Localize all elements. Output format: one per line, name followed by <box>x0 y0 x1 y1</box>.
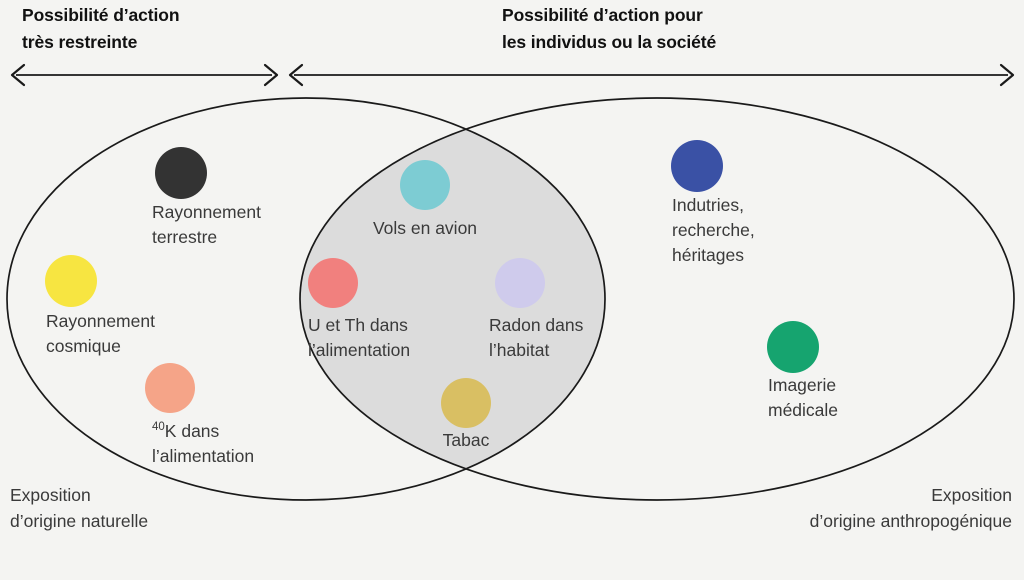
label-k40-dans-alimentation: 40K dans l’alimentation <box>152 415 372 469</box>
dot-rayonnement-cosmique <box>45 255 97 307</box>
label-k40-rest: K dans l’alimentation <box>152 421 254 466</box>
label-rayonnement-terrestre: Rayonnement terrestre <box>152 200 352 250</box>
label-rayonnement-cosmique: Rayonnement cosmique <box>46 309 246 359</box>
dot-imagerie-medicale <box>767 321 819 373</box>
caption-natural-exposure: Exposition d’origine naturelle <box>10 482 148 534</box>
label-u-et-th-dans-alimentation: U et Th dans l’alimentation <box>308 313 498 363</box>
label-imagerie-medicale: Imagerie médicale <box>768 373 968 423</box>
diagram-canvas: Possibilité d’action très restreinte Pos… <box>0 0 1024 580</box>
dot-rayonnement-terrestre <box>155 147 207 199</box>
dot-tabac <box>441 378 491 428</box>
label-tabac: Tabac <box>396 428 536 453</box>
caption-anthropogenic-exposure: Exposition d’origine anthropogénique <box>810 482 1012 534</box>
label-k40-superscript: 40 <box>152 421 165 433</box>
label-vols-en-avion: Vols en avion <box>325 216 525 241</box>
dot-vols-en-avion <box>400 160 450 210</box>
dot-radon-dans-habitat <box>495 258 545 308</box>
dot-indutries-recherche-heritages <box>671 140 723 192</box>
dot-u-et-th-dans-alimentation <box>308 258 358 308</box>
label-indutries-recherche-heritages: Indutries, recherche, héritages <box>672 193 882 268</box>
dot-k40-dans-alimentation <box>145 363 195 413</box>
right-axis-arrow-icon <box>290 65 1013 85</box>
label-radon-dans-habitat: Radon dans l’habitat <box>489 313 649 363</box>
left-axis-arrow-icon <box>12 65 277 85</box>
